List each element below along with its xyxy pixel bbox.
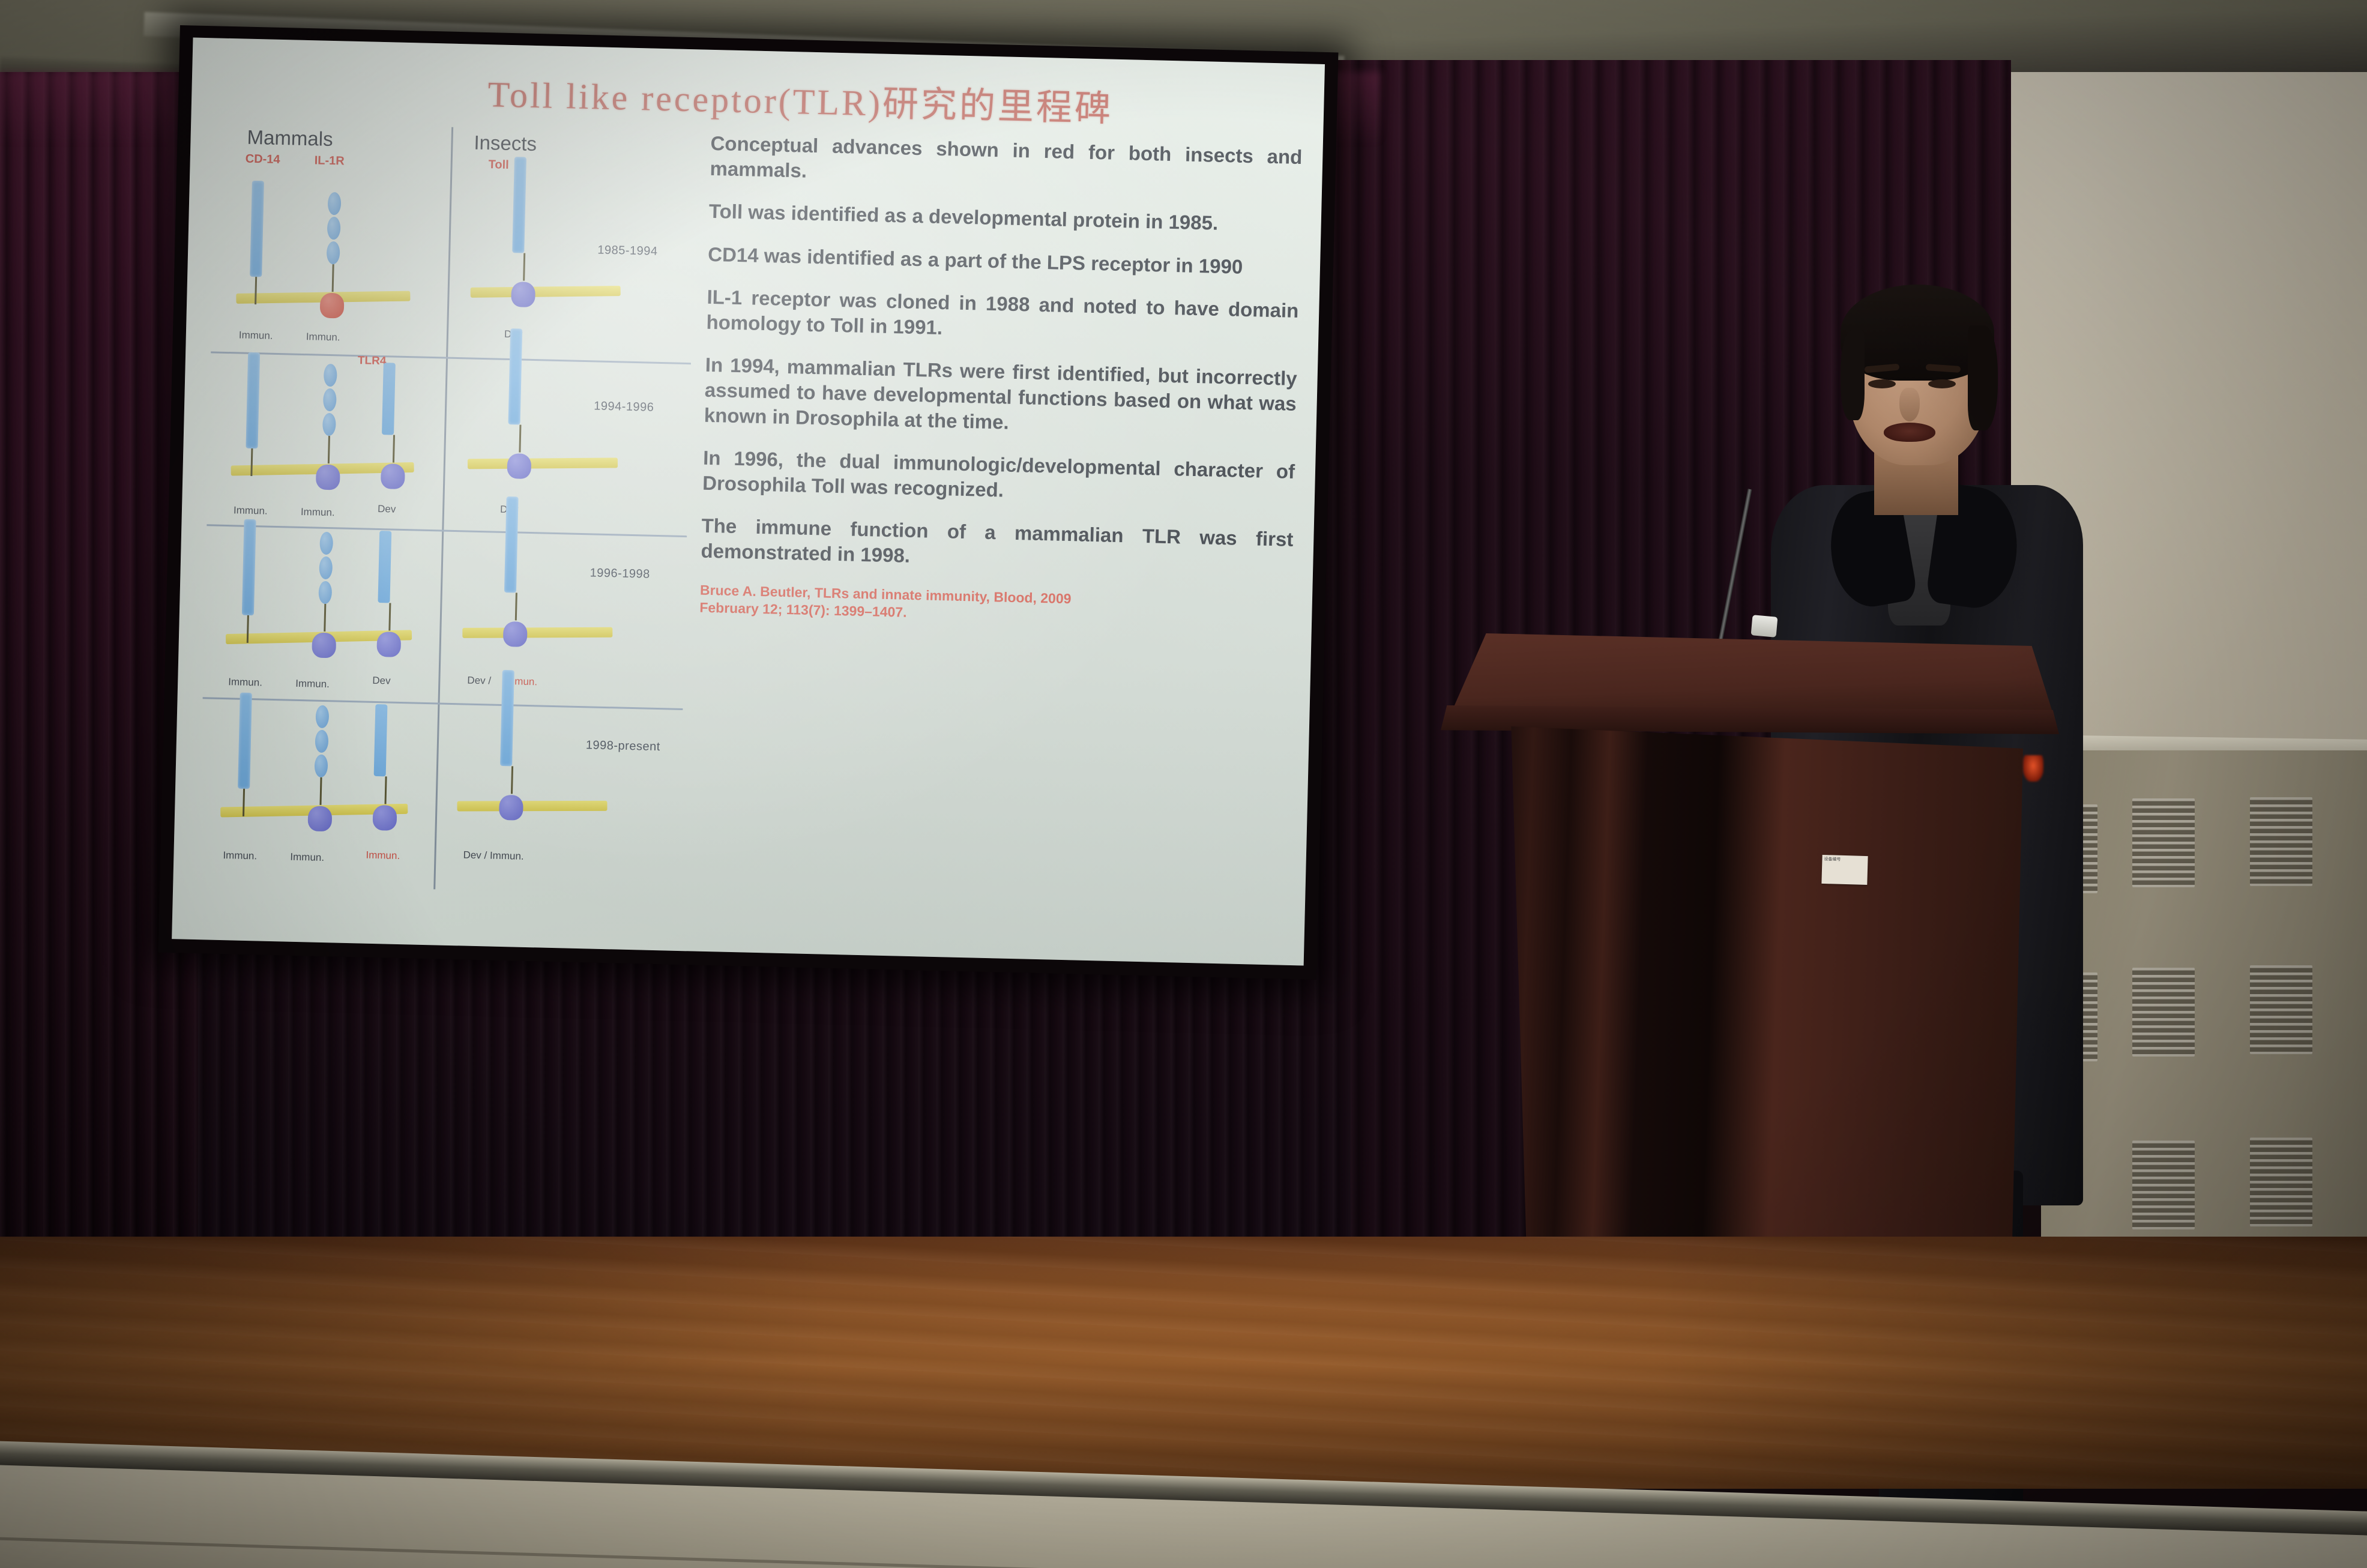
projection-screen-frame: Toll like receptor(TLR)研究的里程碑 Mammals In…: [158, 25, 1339, 980]
stage-floor: [0, 1237, 2367, 1489]
receptor-toll-row4: [499, 670, 526, 821]
row-4-mammal-label-2: Immun.: [290, 851, 324, 864]
cabinet-vent-7: [2132, 1141, 2195, 1229]
speaker-eye-left: [1868, 379, 1896, 388]
row-1-year: 1985-1994: [597, 243, 658, 258]
speaker-hair-left: [1841, 330, 1865, 420]
speaker-nose: [1899, 388, 1920, 421]
slide-citation: Bruce A. Beutler, TLRs and innate immuni…: [699, 581, 1292, 631]
row-1-mammal-label-2: Immun.: [306, 331, 340, 343]
receptor-cd14-row2: [245, 352, 260, 476]
protein-label-cd14: CD-14: [246, 152, 280, 167]
diagram-row-3: Immun. Immun. Dev Dev / Immun. 1996-1998: [203, 526, 687, 710]
membrane-insect-4: [457, 801, 607, 812]
lecture-hall-scene: Toll like receptor(TLR)研究的里程碑 Mammals In…: [0, 0, 2367, 1568]
podium-indicator-light: [2023, 755, 2043, 782]
speaker-mouth: [1884, 423, 1935, 442]
receptor-tlr4-row3: [376, 531, 403, 657]
receptor-il1r: [320, 192, 347, 319]
projection-screen: Toll like receptor(TLR)研究的里程碑 Mammals In…: [172, 38, 1325, 966]
slide-paragraph-6: In 1996, the dual immunologic/developmen…: [702, 445, 1295, 509]
row-2-mammal-label-3: Dev: [378, 503, 396, 516]
protein-label-toll: Toll: [488, 158, 509, 172]
row-4-year: 1998-present: [586, 738, 660, 754]
row-3-mammal-label-3: Dev: [372, 675, 391, 687]
membrane-insect-2: [468, 457, 618, 469]
cabinet-vent-5: [2132, 968, 2195, 1057]
slide-paragraph-3: CD14 was identified as a part of the LPS…: [708, 242, 1300, 281]
slide-text-column: Conceptual advances shown in red for bot…: [688, 128, 1305, 959]
podium-asset-label: 设备编号: [1821, 855, 1868, 885]
receptor-toll: [511, 157, 538, 307]
cabinet-vent-2: [2132, 798, 2195, 887]
row-4-mammal-label-1: Immun.: [223, 849, 257, 862]
receptor-il1r-row4: [307, 705, 334, 831]
slide-paragraph-7: The immune function of a mammalian TLR w…: [701, 513, 1294, 577]
protein-label-il1r: IL-1R: [314, 154, 345, 168]
diagram-row-2: TLR4: [207, 353, 691, 537]
row-2-year: 1994-1996: [594, 399, 654, 414]
receptor-tlr4-row4: [372, 704, 399, 831]
protein-label-tlr4: TLR4: [358, 354, 387, 368]
diagram-row-1: Immun. Immun. Dev 1985-1994: [211, 180, 695, 364]
row-3-mammal-label-1: Immun.: [228, 676, 262, 689]
diagram-row-4: Immun. Immun. Immun. Dev / Immun. 1998-p…: [199, 699, 683, 883]
row-2-mammal-label-2: Immun.: [301, 506, 335, 519]
speaker-eye-right: [1928, 379, 1956, 388]
cabinet-vent-6: [2250, 965, 2312, 1054]
slide-paragraph-2: Toll was identified as a developmental p…: [708, 199, 1301, 238]
slide-paragraph-4: IL-1 receptor was cloned in 1988 and not…: [706, 285, 1299, 348]
row-4-mammal-label-3: Immun.: [366, 849, 400, 862]
membrane-insect-3: [462, 627, 612, 638]
microphone-head: [1751, 615, 1778, 638]
row-1-mammal-label-1: Immun.: [239, 329, 273, 342]
receptor-toll-row2: [507, 328, 534, 479]
row-3-mammal-label-2: Immun.: [295, 678, 330, 690]
row-4-insect-label-1: Dev / Immun.: [463, 849, 524, 862]
receptor-cd14-row4: [237, 693, 252, 816]
row-2-mammal-label-1: Immun.: [234, 504, 268, 517]
column-header-insects: Insects: [474, 131, 537, 155]
row-3-insect-label-1: Dev /: [467, 675, 491, 687]
receptor-toll-row3: [503, 496, 531, 647]
receptor-tlr4-row2: [381, 363, 408, 489]
slide-body: Mammals Insects CD-14 IL-1R Toll: [197, 116, 1305, 958]
membrane-insect-1: [471, 286, 621, 298]
receptor-cd14-row3: [241, 519, 256, 643]
speaker-hair-right: [1968, 325, 1998, 430]
cabinet-vent-3: [2250, 797, 2312, 886]
receptor-il1r-row2: [316, 364, 343, 490]
slide-paragraph-1: Conceptual advances shown in red for bot…: [710, 131, 1303, 194]
slide-paragraph-5: In 1994, mammalian TLRs were first ident…: [704, 352, 1297, 441]
presentation-slide: Toll like receptor(TLR)研究的里程碑 Mammals In…: [172, 38, 1325, 966]
cabinet-vent-8: [2250, 1138, 2312, 1226]
receptor-cd14: [249, 181, 264, 304]
receptor-il1r-row3: [312, 532, 339, 659]
tlr-evolution-diagram: Mammals Insects CD-14 IL-1R Toll: [197, 116, 696, 944]
column-header-mammals: Mammals: [247, 126, 333, 151]
row-3-year: 1996-1998: [589, 566, 650, 581]
